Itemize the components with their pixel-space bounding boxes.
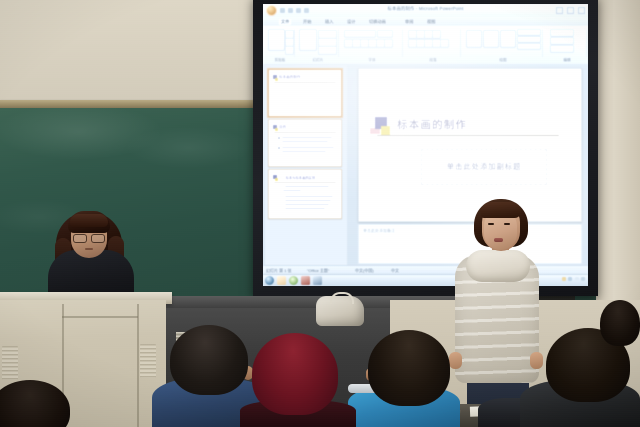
ribbon-group-slides[interactable]: 幻灯片	[297, 27, 339, 63]
powerpoint-window[interactable]: 标本画的制作 - Microsoft PowerPoint 文件 开始 插入 设…	[263, 4, 588, 286]
tab-insert[interactable]: 插入	[325, 19, 333, 25]
deco-yellow-square-icon	[381, 126, 390, 135]
clock-icon[interactable]	[581, 277, 585, 281]
ribbon-group-editing-label: 编辑	[547, 58, 587, 63]
student-red-hair-head	[252, 333, 338, 415]
status-theme: "Office 主题"	[307, 268, 329, 274]
find-button[interactable]	[550, 29, 574, 37]
slide-deco-yellow-icon	[275, 78, 278, 81]
podium-door-seam-top	[62, 316, 138, 318]
network-icon[interactable]	[562, 277, 566, 281]
system-tray[interactable]	[562, 277, 586, 281]
slide-title-underline	[377, 135, 559, 136]
bullet-icon	[278, 147, 280, 149]
new-slide-button[interactable]	[299, 29, 317, 51]
close-icon[interactable]	[578, 7, 585, 14]
shape-effects-button[interactable]	[517, 43, 541, 50]
input-method-icon[interactable]	[575, 277, 579, 281]
line-spacing-button[interactable]	[432, 30, 441, 39]
slide3-deco-yellow-icon	[275, 178, 278, 181]
shape-fill-button[interactable]	[517, 29, 541, 36]
slide-subtitle-text: 单击此处添加副标题	[422, 161, 546, 172]
slide-title-text[interactable]: 标本画的制作	[397, 117, 467, 132]
font-family-select[interactable]	[344, 30, 376, 38]
student-far-right-head	[600, 300, 640, 346]
window-controls[interactable]	[556, 7, 585, 14]
woman-standing-mouth	[494, 238, 503, 242]
tab-home[interactable]: 开始	[303, 19, 311, 25]
podium-vent-right	[140, 344, 156, 378]
minimize-icon[interactable]	[556, 7, 563, 14]
slide-thumbnail-3-rule	[274, 182, 336, 183]
slide-subtitle-placeholder[interactable]: 单击此处添加副标题	[421, 149, 547, 185]
bullet-icon	[278, 137, 280, 139]
replace-button[interactable]	[550, 37, 574, 45]
woman-standing-left-eye	[488, 223, 494, 225]
ribbon-body[interactable]: 剪贴板 幻灯片	[263, 26, 588, 65]
shape-outline-button[interactable]	[517, 36, 541, 43]
shapes-gallery[interactable]	[466, 30, 482, 48]
eyeglasses-left-lens-icon	[73, 234, 87, 243]
slide-thumbnail-1-rule	[274, 82, 336, 83]
woman-standing-left-hand	[449, 352, 462, 369]
status-slide-indicator: 幻灯片 第 1 张	[266, 268, 292, 274]
select-button[interactable]	[550, 45, 574, 53]
tab-file[interactable]: 文件	[279, 19, 291, 25]
quick-styles-button[interactable]	[500, 30, 516, 48]
font-size-select[interactable]	[377, 30, 393, 38]
quick-access-toolbar[interactable]	[280, 8, 309, 13]
tab-review[interactable]: 审阅	[405, 19, 413, 25]
classroom-wall-right	[596, 0, 640, 340]
ribbon-group-paragraph-label: 段落	[405, 58, 461, 63]
notes-placeholder-text: 单击此处添加备注	[363, 228, 395, 234]
podium-door-seam-right	[137, 304, 139, 427]
student-blue-hoodie-head	[170, 325, 248, 395]
slide-thumbnail-3[interactable]: 一、标本与标本画的区别	[268, 169, 342, 219]
media-icon[interactable]	[313, 276, 322, 285]
student-blue-jacket-head	[368, 330, 450, 406]
explorer-icon[interactable]	[277, 276, 286, 285]
woman-at-podium-bangs	[70, 214, 108, 227]
status-language: 中文(中国)	[355, 268, 374, 274]
projection-screen-surface: 标本画的制作 - Microsoft PowerPoint 文件 开始 插入 设…	[263, 4, 588, 286]
woman-at-podium-mouth	[85, 248, 93, 250]
ribbon-group-clipboard-label: 剪贴板	[265, 58, 295, 63]
powerpoint-icon[interactable]	[301, 276, 310, 285]
slide-thumbnail-2-title: 目的	[279, 125, 286, 130]
woman-standing-right-hand	[530, 352, 543, 369]
font-color-button[interactable]	[384, 39, 393, 48]
ribbon-group-editing[interactable]: 编辑	[547, 27, 587, 63]
ribbon-group-font[interactable]: 字体	[341, 27, 403, 63]
ribbon-group-slides-label: 幻灯片	[297, 58, 339, 63]
volume-icon[interactable]	[568, 277, 572, 281]
columns-button[interactable]	[440, 39, 449, 48]
ribbon-group-drawing[interactable]: 绘图	[463, 27, 543, 63]
podium-vent-left	[2, 346, 18, 380]
projection-screen-frame: 标本画的制作 - Microsoft PowerPoint 文件 开始 插入 设…	[253, 0, 598, 296]
tab-view[interactable]: 视图	[427, 19, 435, 25]
slide-thumbnail-pane[interactable]: 标本画的制作 目的	[265, 65, 347, 265]
woman-standing-jacket-collar	[466, 250, 530, 282]
undo-icon[interactable]	[288, 8, 293, 13]
maximize-icon[interactable]	[567, 7, 574, 14]
windows-taskbar[interactable]	[263, 274, 588, 286]
browser-icon[interactable]	[289, 276, 298, 285]
slide-thumbnail-3-title: 一、标本与标本画的区别	[279, 175, 315, 180]
tab-transitions[interactable]: 切换动画	[369, 19, 386, 25]
slide-thumbnail-1[interactable]: 标本画的制作	[268, 69, 342, 117]
slide2-deco-yellow-icon	[275, 128, 278, 131]
ribbon-group-clipboard[interactable]: 剪贴板	[265, 27, 295, 63]
slide-editing-area[interactable]: 标本画的制作 单击此处添加副标题	[358, 68, 582, 222]
window-title: 标本画的制作 - Microsoft PowerPoint	[388, 6, 464, 12]
tab-design[interactable]: 设计	[347, 19, 355, 25]
save-icon[interactable]	[280, 8, 285, 13]
ribbon-group-paragraph[interactable]: 段落	[405, 27, 461, 63]
ribbon-group-drawing-label: 绘图	[463, 58, 543, 63]
ribbon-group-font-label: 字体	[341, 58, 403, 63]
classroom-photo-scene: 标本画的制作 - Microsoft PowerPoint 文件 开始 插入 设…	[0, 0, 640, 427]
bag-handle	[330, 292, 354, 304]
start-orb-icon[interactable]	[265, 276, 274, 285]
woman-standing-bangs	[481, 202, 521, 218]
office-orb-icon[interactable]	[266, 5, 277, 16]
eyeglasses-right-lens-icon	[91, 234, 105, 243]
powerpoint-workspace: 标本画的制作 目的	[263, 64, 588, 266]
status-proofing: 中文	[391, 268, 399, 274]
format-painter-button[interactable]	[285, 46, 294, 55]
section-button[interactable]	[318, 46, 337, 55]
slide-thumbnail-2-rule	[274, 132, 336, 133]
redo-icon[interactable]	[296, 8, 301, 13]
powerpoint-titlebar: 标本画的制作 - Microsoft PowerPoint	[263, 4, 588, 18]
arrange-button[interactable]	[483, 30, 499, 48]
slide-thumbnail-1-title: 标本画的制作	[279, 75, 301, 80]
woman-standing-right-eye	[504, 223, 510, 225]
slide-thumbnail-2[interactable]: 目的	[268, 119, 342, 167]
paste-button[interactable]	[268, 29, 285, 51]
customize-icon[interactable]	[304, 8, 309, 13]
